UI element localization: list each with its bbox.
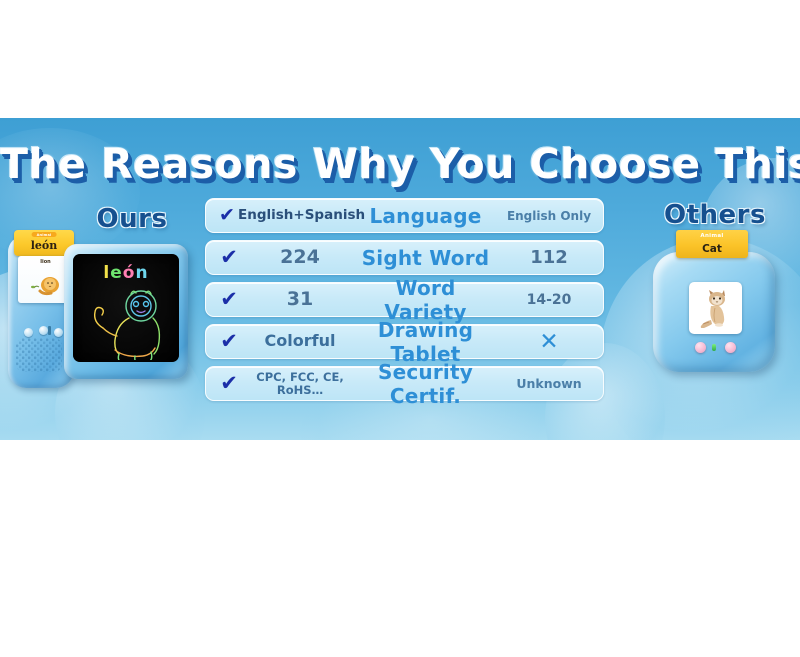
table-row[interactable]: ✔ CPC, FCC, CE, RoHS… Security Certif. U… [205, 366, 604, 401]
others-flashcard-word: Cat [676, 243, 748, 255]
green-led-icon [712, 344, 716, 351]
check-icon: ✔ [214, 331, 244, 352]
product-image-others: Animal Cat [645, 230, 795, 390]
check-icon: ✔ [214, 289, 244, 310]
cat-illustration-icon [697, 288, 735, 328]
cross-icon: ✕ [495, 329, 603, 355]
row-feature-label: Drawing Tablet [356, 318, 495, 366]
row-ours-value: 31 [244, 290, 356, 310]
lion-neon-drawing-icon [73, 280, 179, 360]
row-ours-value: English+Spanish [238, 208, 356, 222]
comparison-table: ✔ English+Spanish Language English Only … [205, 198, 604, 408]
row-others-value: Unknown [495, 376, 603, 391]
row-feature-label: Sight Word [356, 246, 495, 270]
others-flashcard-yellow: Animal Cat [676, 230, 748, 258]
others-flashcard-tag: Animal [700, 233, 723, 239]
row-ours-value: 224 [244, 248, 356, 268]
promo-banner: The Reasons Why You Choose This Ours Oth… [0, 118, 800, 440]
ours-device-button [24, 328, 33, 337]
ours-drawing-tablet: león [64, 244, 188, 379]
others-device-button [725, 342, 736, 353]
ours-tablet-screen: león [73, 254, 179, 362]
ours-device-button [39, 326, 48, 335]
check-icon: ✔ [216, 206, 238, 225]
row-feature-label: Security Certif. [356, 360, 495, 408]
ours-device-switch [48, 326, 51, 335]
others-device-button [695, 342, 706, 353]
product-image-ours: Animal león lion león [2, 230, 192, 405]
row-others-value: English Only [495, 209, 603, 223]
table-row[interactable]: ✔ English+Spanish Language English Only [205, 198, 604, 233]
table-row[interactable]: ✔ 224 Sight Word 112 [205, 240, 604, 275]
row-ours-value: Colorful [244, 333, 356, 350]
ours-device-button [54, 328, 63, 337]
ours-flashcard-tag: Animal [32, 232, 57, 237]
lion-illustration-icon [26, 269, 66, 299]
row-others-value: 14-20 [495, 292, 603, 308]
check-icon: ✔ [214, 373, 244, 394]
row-feature-label: Word Variety [356, 276, 495, 324]
row-others-value: 112 [495, 247, 603, 268]
row-ours-value: CPC, FCC, CE, RoHS… [244, 371, 356, 397]
table-row[interactable]: ✔ 31 Word Variety 14-20 [205, 282, 604, 317]
check-icon: ✔ [214, 247, 244, 268]
others-device-screen [689, 282, 742, 334]
table-row[interactable]: ✔ Colorful Drawing Tablet ✕ [205, 324, 604, 359]
column-heading-others: Others [640, 200, 790, 230]
row-feature-label: Language [356, 204, 495, 228]
banner-title: The Reasons Why You Choose This [0, 140, 800, 188]
